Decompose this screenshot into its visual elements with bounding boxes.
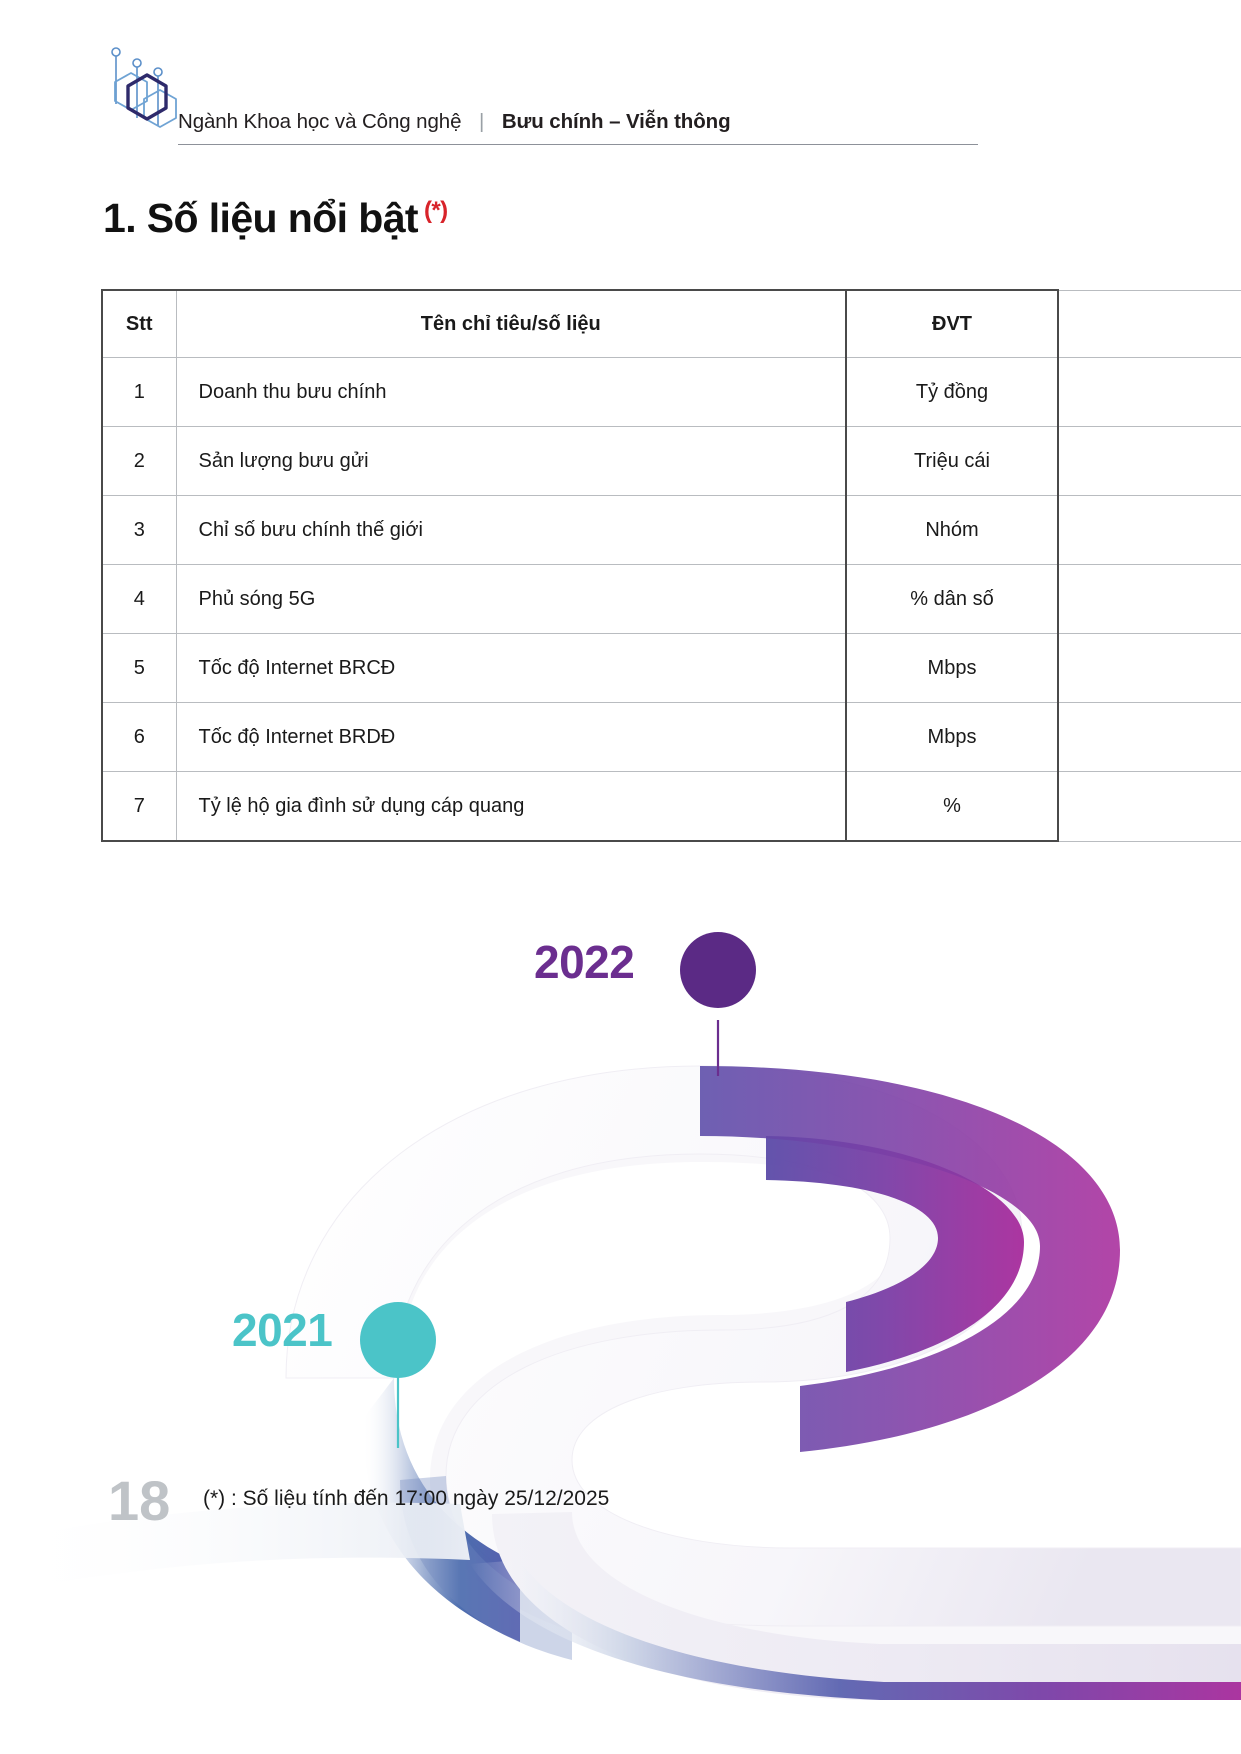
table-row: 5Tốc độ Internet BRCĐMbps — [102, 634, 1241, 703]
page-title-footnote-marker: (*) — [424, 197, 448, 224]
cell-unit: % dân số — [846, 565, 1058, 634]
column-header-stt: Stt — [102, 290, 176, 358]
page-title-text: 1. Số liệu nổi bật — [103, 195, 418, 241]
footnote-text: (*) : Số liệu tính đến 17:00 ngày 25/12/… — [203, 1487, 609, 1511]
cell-name: Tỷ lệ hộ gia đình sử dụng cáp quang — [176, 772, 846, 842]
cell-name: Phủ sóng 5G — [176, 565, 846, 634]
cell-stt: 5 — [102, 634, 176, 703]
cell-stt: 3 — [102, 496, 176, 565]
table-body: 1Doanh thu bưu chínhTỷ đồng2Sản lượng bư… — [102, 358, 1241, 842]
cell-extra — [1058, 703, 1241, 772]
column-header-name: Tên chỉ tiêu/số liệu — [176, 290, 846, 358]
cell-stt: 2 — [102, 427, 176, 496]
cell-name: Tốc độ Internet BRDĐ — [176, 703, 846, 772]
cell-extra — [1058, 772, 1241, 842]
page-title: 1. Số liệu nổi bật(*) — [103, 195, 448, 242]
cell-stt: 1 — [102, 358, 176, 427]
table-row: 3Chỉ số bưu chính thế giớiNhóm — [102, 496, 1241, 565]
cell-unit: Tỷ đồng — [846, 358, 1058, 427]
cell-stt: 7 — [102, 772, 176, 842]
hexagon-network-logo-icon — [100, 42, 190, 147]
year-label-2021: 2021 — [232, 1303, 332, 1357]
cell-name: Doanh thu bưu chính — [176, 358, 846, 427]
pin-marker-2021 — [360, 1302, 436, 1378]
year-label-2022: 2022 — [534, 935, 634, 989]
cell-stt: 6 — [102, 703, 176, 772]
cell-extra — [1058, 427, 1241, 496]
header-separator: | — [479, 110, 484, 134]
cell-extra — [1058, 634, 1241, 703]
ribbon-teal-tail — [0, 1503, 470, 1594]
cell-unit: Mbps — [846, 634, 1058, 703]
cell-extra — [1058, 565, 1241, 634]
cell-extra — [1058, 358, 1241, 427]
cell-unit: % — [846, 772, 1058, 842]
table-row: 1Doanh thu bưu chínhTỷ đồng — [102, 358, 1241, 427]
header-divider — [178, 144, 978, 145]
cell-name: Tốc độ Internet BRCĐ — [176, 634, 846, 703]
timeline-ribbon-graphic — [0, 900, 1241, 1700]
header-segment-science: Ngành Khoa học và Công nghệ — [178, 110, 461, 133]
table-row: 2Sản lượng bưu gửiTriệu cái — [102, 427, 1241, 496]
header-breadcrumb: Ngành Khoa học và Công nghệ | Bưu chính … — [178, 110, 731, 134]
page-header: Ngành Khoa học và Công nghệ | Bưu chính … — [100, 40, 1100, 150]
header-segment-post: Bưu chính – Viễn thông — [502, 110, 731, 133]
cell-stt: 4 — [102, 565, 176, 634]
cell-extra — [1058, 496, 1241, 565]
cell-unit: Nhóm — [846, 496, 1058, 565]
cell-name: Chỉ số bưu chính thế giới — [176, 496, 846, 565]
cell-unit: Triệu cái — [846, 427, 1058, 496]
pin-marker-2022 — [680, 932, 756, 1008]
cell-name: Sản lượng bưu gửi — [176, 427, 846, 496]
table-row: 4Phủ sóng 5G% dân số — [102, 565, 1241, 634]
table-row: 6Tốc độ Internet BRDĐMbps — [102, 703, 1241, 772]
column-header-unit: ĐVT — [846, 290, 1058, 358]
cell-unit: Mbps — [846, 703, 1058, 772]
column-header-extra — [1058, 290, 1241, 358]
page-number: 18 — [108, 1468, 170, 1533]
table-header-row: Stt Tên chỉ tiêu/số liệu ĐVT — [102, 290, 1241, 358]
statistics-table: Stt Tên chỉ tiêu/số liệu ĐVT 1Doanh thu … — [101, 289, 1241, 842]
table-row: 7Tỷ lệ hộ gia đình sử dụng cáp quang% — [102, 772, 1241, 842]
